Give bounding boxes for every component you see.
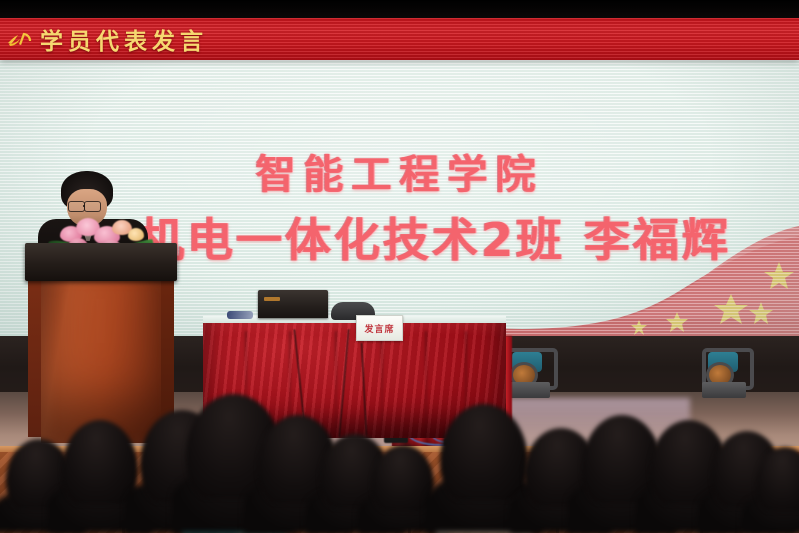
stage-panel-seam [700,456,703,533]
speaker-seat-placard: 发言席 [356,315,403,341]
placard-text: 发言席 [364,322,394,335]
glasses-bridge [83,205,85,207]
stage-panel-seam [408,456,411,533]
desk-accessories [227,311,253,319]
stage-panel-seam [556,456,559,533]
auditorium-scene: 智能工程学院 22机电一体化技术2班 李福辉 学员代表发言 [0,0,799,533]
party-emblem-icon [4,27,34,51]
stage-panel-seam [272,456,275,533]
laptop-lid [258,290,328,318]
stage-panel-seam [122,456,125,533]
glasses-right-lens [84,201,101,212]
banner-title: 学员代表发言 [40,22,208,56]
event-banner: 学员代表发言 [0,18,799,60]
podium-top-surface [25,243,177,281]
stage-front-wood-panel [0,452,799,533]
lenovo-laptop[interactable] [258,290,328,320]
ceiling-dark-bar [0,0,799,18]
laptop-logo [264,297,280,301]
